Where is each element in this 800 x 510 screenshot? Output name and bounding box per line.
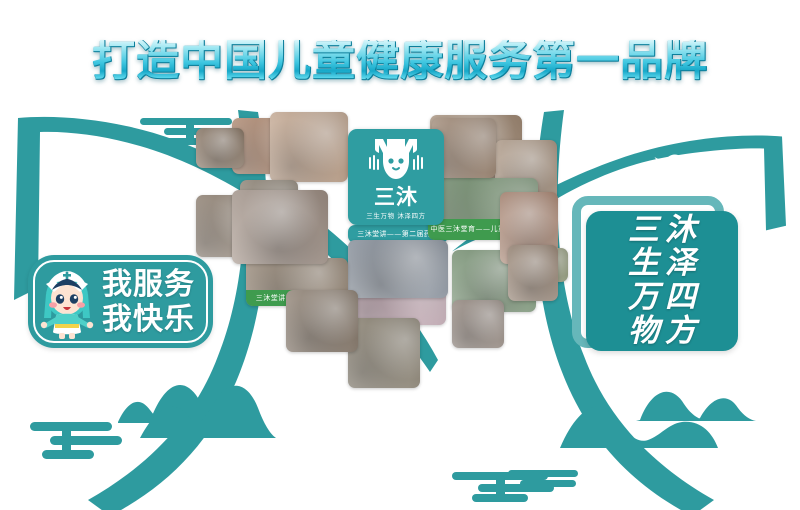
calli-char: 四 xyxy=(665,282,696,314)
photo-consult-desk xyxy=(232,190,328,264)
poster-canvas: 中医三沐堂育——儿童药浴文化三沐堂讲——第二届药浴三沐堂讲——第二届药浴 三沐 … xyxy=(0,0,800,510)
photo-lecture-room xyxy=(196,128,244,168)
calligraphy-panel: 沐 泽 四 方 三 生 万 物 xyxy=(586,211,738,351)
page-title-container: 打造中国儿童健康服务第一品牌 xyxy=(0,33,800,89)
photo-acupuncture xyxy=(508,245,558,301)
logo-wordmark: 三沐 xyxy=(374,186,418,207)
page-title: 打造中国儿童健康服务第一品牌 xyxy=(92,40,708,83)
calli-char: 万 xyxy=(628,282,659,314)
calligraphy-column-left: 三 生 万 物 xyxy=(628,215,659,347)
collage-caption-text: 三沐堂讲——第二届药浴 xyxy=(357,229,438,239)
photo-doctor-patient xyxy=(348,318,420,388)
calligraphy-column-right: 沐 泽 四 方 xyxy=(665,215,696,347)
sanmu-sheep-head-logo-icon xyxy=(367,135,425,183)
nurse-girl-mascot-icon xyxy=(34,262,100,341)
sanmu-logo-tile: 三沐 三生万物 沐泽四方 xyxy=(348,129,444,225)
badge-line-2: 我快乐 xyxy=(102,304,205,336)
photo-student-row xyxy=(348,240,448,298)
photo-pharmacy-counter xyxy=(270,112,348,182)
calli-char: 方 xyxy=(665,316,696,348)
badge-line-1: 我服务 xyxy=(102,269,205,301)
badge-text-block: 我服务 我快乐 xyxy=(102,264,205,341)
calli-char: 生 xyxy=(628,248,659,280)
calli-char: 沐 xyxy=(665,215,696,247)
service-slogan-badge: 我服务 我快乐 xyxy=(28,255,213,348)
logo-tagline: 三生万物 沐泽四方 xyxy=(366,210,425,220)
calli-char: 泽 xyxy=(665,248,696,280)
photo-workshop xyxy=(286,290,358,352)
calli-char: 物 xyxy=(628,316,659,348)
calli-char: 三 xyxy=(628,215,659,247)
photo-clinic-room xyxy=(452,300,504,348)
